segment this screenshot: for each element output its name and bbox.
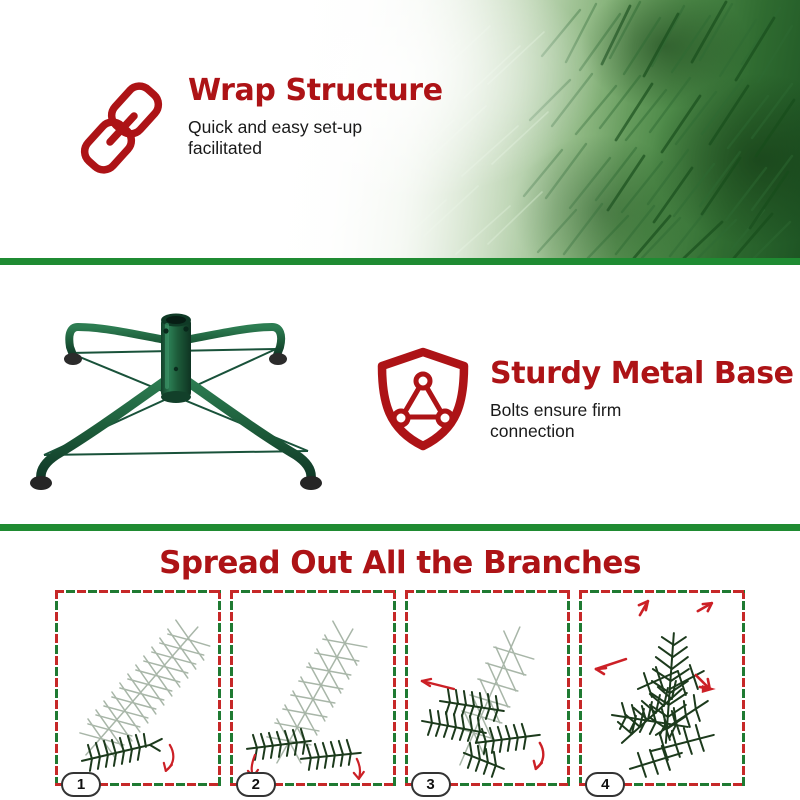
step-illustration-1 bbox=[58, 593, 218, 783]
feature-subtitle: Quick and easy set-up facilitated bbox=[188, 117, 518, 159]
steps-row: 1 bbox=[55, 590, 745, 786]
step-panel-3: 3 bbox=[405, 590, 571, 786]
feature-subtitle-line2: facilitated bbox=[188, 138, 262, 158]
chain-link-icon bbox=[78, 80, 166, 176]
step-illustration-3 bbox=[408, 593, 568, 783]
steps-heading: Spread Out All the Branches bbox=[0, 545, 800, 581]
step-panel-1: 1 bbox=[55, 590, 221, 786]
feature-text-block: Sturdy Metal Base Bolts ensure firm conn… bbox=[490, 357, 800, 442]
step-illustration-2 bbox=[233, 593, 393, 783]
step-panel-4: 4 bbox=[579, 590, 745, 786]
step-number-badge: 3 bbox=[411, 772, 451, 797]
step-number-badge: 1 bbox=[61, 772, 101, 797]
section-spread-branches: Spread Out All the Branches bbox=[0, 531, 800, 800]
feature-text-block: Wrap Structure Quick and easy set-up fac… bbox=[188, 74, 518, 159]
step-number-badge: 2 bbox=[236, 772, 276, 797]
metal-stand-photo bbox=[8, 283, 338, 505]
section-divider-bottom bbox=[0, 524, 800, 531]
feature-subtitle-line1: Quick and easy set-up bbox=[188, 117, 362, 137]
step-panel-2: 2 bbox=[230, 590, 396, 786]
feature-title: Wrap Structure bbox=[188, 74, 518, 108]
feature-title: Sturdy Metal Base bbox=[490, 357, 800, 391]
infographic-page: Wrap Structure Quick and easy set-up fac… bbox=[0, 0, 800, 800]
step-number-badge: 4 bbox=[585, 772, 625, 797]
section-metal-base: Sturdy Metal Base Bolts ensure firm conn… bbox=[0, 265, 800, 524]
section-divider-top bbox=[0, 258, 800, 265]
shield-bolts-icon bbox=[372, 345, 474, 453]
step-illustration-4 bbox=[582, 593, 742, 783]
section-wrap-structure: Wrap Structure Quick and easy set-up fac… bbox=[0, 0, 800, 258]
feature-subtitle: Bolts ensure firm connection bbox=[490, 400, 800, 442]
feature-subtitle-line1: Bolts ensure firm bbox=[490, 400, 621, 420]
feature-subtitle-line2: connection bbox=[490, 421, 575, 441]
